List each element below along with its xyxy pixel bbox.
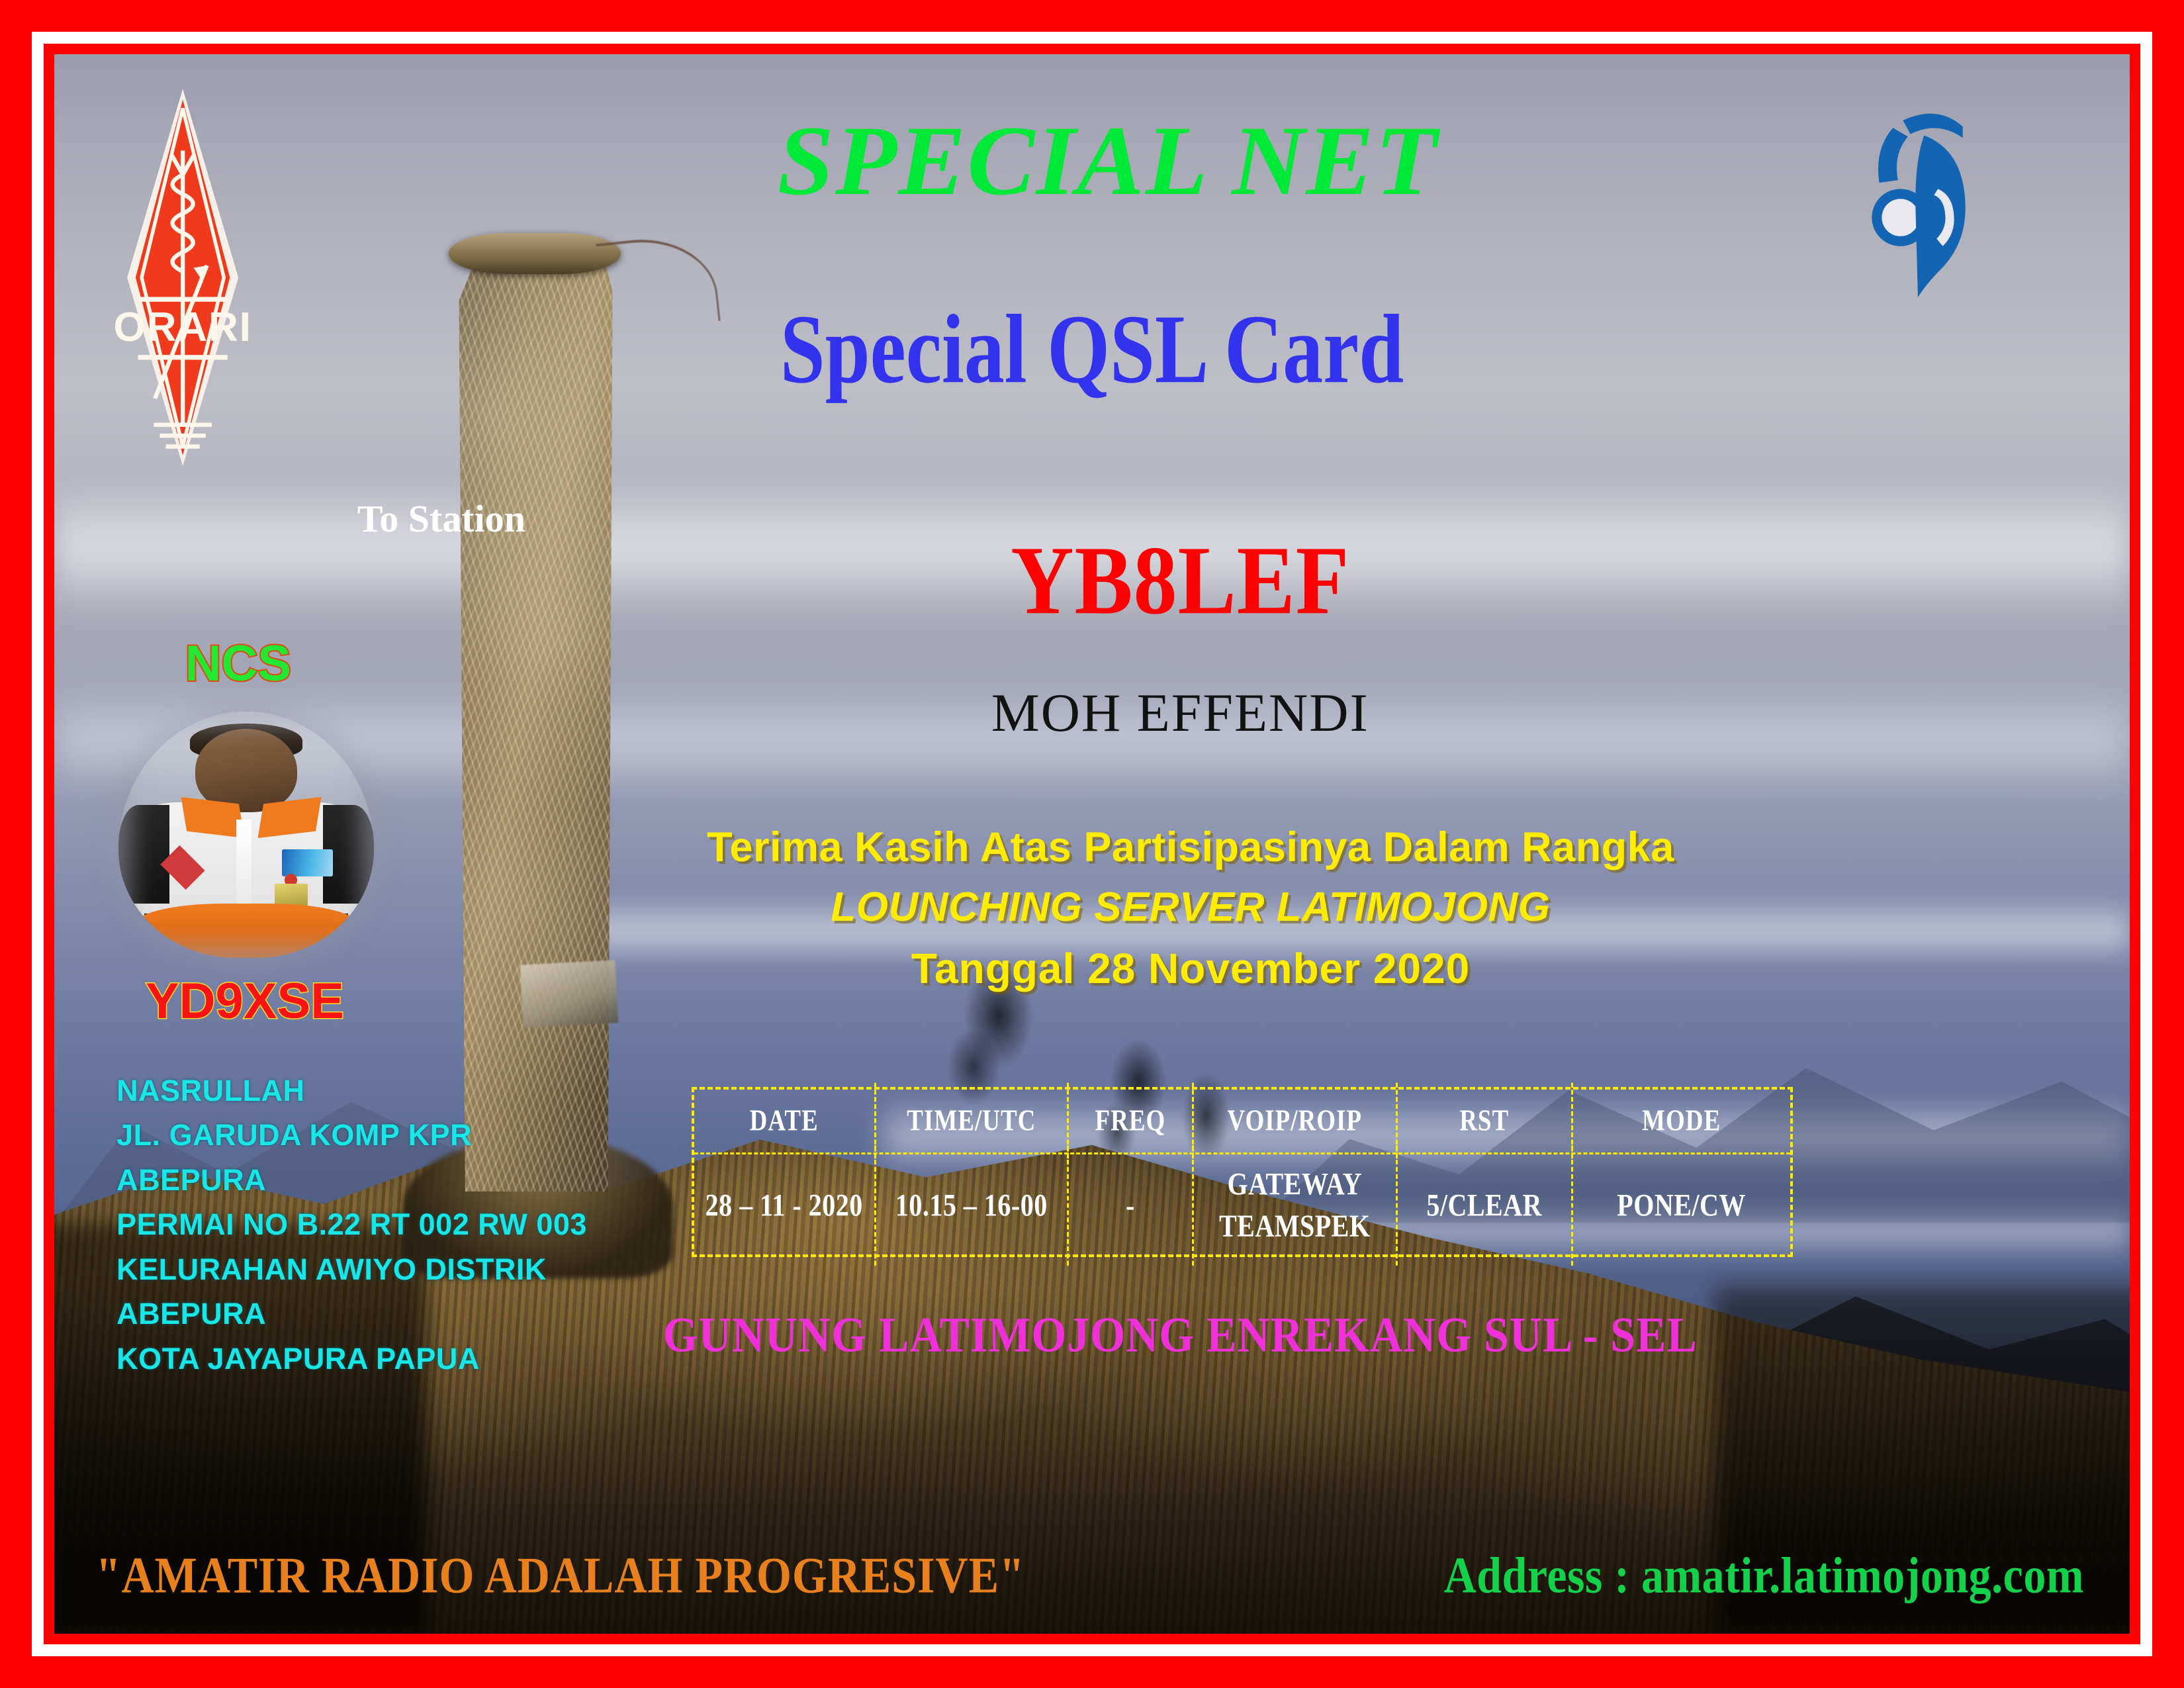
ncs-role-label: NCS: [185, 639, 291, 689]
event-line-1: Terima Kasih Atas Partisipasinya Dalam R…: [251, 819, 2130, 876]
address-line: PERMAI NO B.22 RT 002 RW 003: [116, 1202, 587, 1247]
page-subtitle: Special QSL Card: [54, 301, 2130, 399]
qso-log-table: DATE TIME/UTC FREQ VOIP/ROIP RST MODE 28…: [692, 1087, 1793, 1256]
table-header-row: DATE TIME/UTC FREQ VOIP/ROIP RST MODE: [694, 1090, 1790, 1152]
ncs-callsign: YD9XSE: [146, 976, 344, 1027]
address-line: JL. GARUDA KOMP KPR: [116, 1113, 587, 1158]
address-line: KELURAHAN AWIYO DISTRIK: [116, 1247, 587, 1292]
operator-portrait: [118, 712, 374, 958]
address-line: ABEPURA: [116, 1158, 587, 1203]
event-line-3: Tanggal 28 November 2020: [251, 938, 2130, 1000]
location-caption: GUNUNG LATIMOJONG ENREKANG SUL - SEL: [54, 1310, 2130, 1360]
footer-web-address: Address : amatir.latimojong.com: [1444, 1549, 2084, 1601]
cell-voip: GATEWAY TEAMSPEK: [1194, 1145, 1398, 1266]
cell-rst: 5/CLEAR: [1398, 1145, 1573, 1266]
table-row: 28 – 11 - 2020 10.15 – 16-00 - GATEWAY T…: [694, 1152, 1790, 1256]
card-background-photo: ORARI: [54, 54, 2130, 1634]
portrait-vignette: [118, 712, 374, 958]
card-content: ORARI: [54, 54, 2130, 1634]
event-line-2: LOUNCHING SERVER LATIMOJONG: [251, 876, 2130, 938]
footer-slogan: "AMATIR RADIO ADALAH PROGRESIVE": [96, 1549, 1025, 1601]
address-line: NASRULLAH: [116, 1068, 587, 1113]
page-title-text: SPECIAL NET: [746, 111, 1439, 211]
cell-time: 10.15 – 16-00: [876, 1145, 1069, 1266]
cell-freq: -: [1069, 1145, 1194, 1266]
cell-mode: PONE/CW: [1573, 1145, 1790, 1266]
cell-date: 28 – 11 - 2020: [694, 1145, 876, 1266]
recipient-callsign: YB8LEF: [54, 532, 2130, 630]
qsl-card: ORARI: [0, 0, 2184, 1688]
page-title: SPECIAL NET: [54, 111, 2130, 211]
